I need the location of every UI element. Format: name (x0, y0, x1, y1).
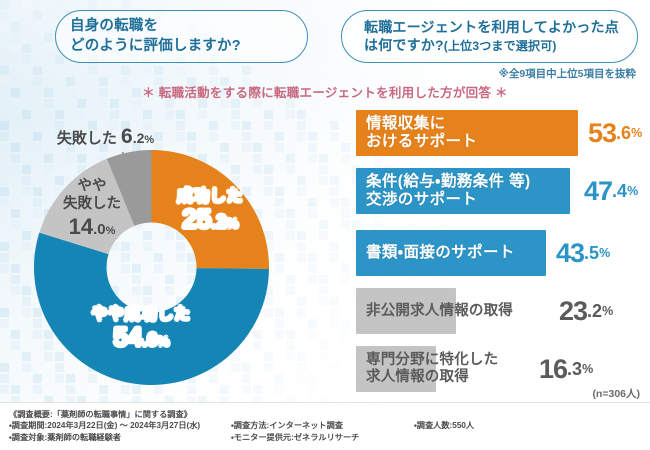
bar-label-specialized-job-info: 専門分野に特化した求人情報の取得 (366, 346, 498, 392)
survey-col1: ・調査期間:2024年3月22日(金) 〜 2024年3月27日(水) ・調査対… (9, 420, 200, 445)
bar-chart: 情報収集におけるサポート53.6%条件(給与・勤務条件 等)交渉のサポート47.… (356, 110, 641, 395)
donut-label-semi-fail-value: 14.0% (46, 214, 138, 241)
question-right-line2-main: は何ですか? (364, 37, 444, 53)
bar-value-int-condition-negotiation-support: 47 (584, 178, 612, 205)
bar-label-line2-condition-negotiation-support: 交渉のサポート (366, 191, 531, 209)
bar-label-info-support: 情報収集におけるサポート (366, 110, 477, 156)
bar-row-condition-negotiation-support[interactable]: 条件(給与・勤務条件 等)交渉のサポート47.4% (356, 168, 641, 214)
survey-monitor: ・モニター提供元:ゼネラルリサーチ (231, 432, 359, 444)
bar-label-line1-specialized-job-info: 専門分野に特化した (366, 352, 498, 369)
survey-col3: ・調査人数:550人 (414, 420, 474, 432)
sample-size-note: (n=306人) (592, 386, 640, 401)
question-right-line2: は何ですか?(上位3つまで選択可) (356, 36, 623, 55)
bar-row-private-job-info[interactable]: 非公開求人情報の取得23.2% (356, 288, 641, 334)
donut-label-fail-value: 6.2% (121, 125, 154, 148)
excerpt-note: ※全9項目中上位5項目を抜粋 (499, 66, 636, 81)
bar-value-dec-document-interview-support: .5 (584, 244, 599, 262)
bar-value-dec-specialized-job-info: .3 (567, 360, 582, 378)
bar-value-int-info-support: 53 (588, 120, 616, 147)
survey-col2: ・調査方法:インターネット調査 ・モニター提供元:ゼネラルリサーチ (231, 420, 359, 445)
bar-value-int-specialized-job-info: 16 (539, 356, 567, 383)
bar-value-int-document-interview-support: 43 (556, 240, 584, 267)
donut-fail-dec: .2 (133, 130, 145, 146)
bar-label-document-interview-support: 書類・面接のサポート (366, 230, 515, 276)
question-pill-right: 転職エージェントを利用してよかった点 は何ですか?(上位3つまで選択可) (341, 10, 638, 63)
donut-fail-pct: % (144, 134, 154, 146)
bar-value-document-interview-support: 43.5% (556, 230, 610, 276)
footer: 《調査概要:「薬剤師の転職事情」に関する調査》 ・調査期間:2024年3月22日… (0, 402, 650, 450)
bar-value-pct-condition-negotiation-support: % (627, 185, 638, 198)
donut-semi-fail-int: 14 (69, 214, 93, 239)
donut-semi-fail-pct: % (106, 225, 116, 237)
bar-label-condition-negotiation-support: 条件(給与・勤務条件 等)交渉のサポート (366, 168, 531, 214)
bar-label-line2-specialized-job-info: 求人情報の取得 (366, 369, 498, 386)
bar-value-int-private-job-info: 23 (559, 298, 587, 325)
survey-target: ・調査対象:薬剤師の転職経験者 (9, 432, 200, 444)
bar-row-info-support[interactable]: 情報収集におけるサポート53.6% (356, 110, 641, 156)
donut-semi-fail-dec: .0 (93, 221, 106, 238)
infographic-canvas: 自身の転職を どのように評価しますか? 転職エージェントを利用してよかった点 は… (0, 0, 650, 450)
bar-value-pct-specialized-job-info: % (582, 363, 593, 376)
bar-label-private-job-info: 非公開求人情報の取得 (366, 288, 513, 334)
question-left-line2: どのように評価しますか? (70, 37, 293, 56)
question-right-line1: 転職エージェントを利用してよかった点 (356, 18, 623, 36)
donut-label-semi-fail-title-l1: やや (78, 178, 107, 194)
bar-label-line1-condition-negotiation-support: 条件(給与・勤務条件 等) (366, 173, 531, 191)
question-left-line1: 自身の転職を (70, 17, 293, 36)
question-pill-left: 自身の転職を どのように評価しますか? (55, 10, 308, 63)
bar-label-line1-info-support: 情報収集に (366, 115, 477, 133)
donut-label-fail: 失敗した 6.2% (18, 124, 193, 150)
bar-label-line1-document-interview-support: 書類・面接のサポート (366, 244, 515, 262)
respondent-note: ＊ 転職活動をする際に転職エージェントを利用した方が回答 ＊ (0, 82, 650, 101)
bar-value-info-support: 53.6% (588, 110, 642, 156)
bar-label-line2-info-support: おけるサポート (366, 133, 477, 151)
bar-row-document-interview-support[interactable]: 書類・面接のサポート43.5% (356, 230, 641, 276)
bar-label-line1-private-job-info: 非公開求人情報の取得 (366, 303, 513, 320)
question-right-line2-sub: (上位3つまで選択可) (444, 39, 557, 53)
bar-value-condition-negotiation-support: 47.4% (584, 168, 638, 214)
donut-fail-int: 6 (121, 125, 133, 148)
bar-value-dec-info-support: .6 (616, 124, 631, 142)
donut-label-semi-fail-title-l2: 失敗した (63, 196, 121, 212)
bar-value-specialized-job-info: 16.3% (539, 346, 593, 392)
donut-segment-success (152, 150, 270, 269)
survey-count: ・調査人数:550人 (414, 420, 474, 432)
survey-period: ・調査期間:2024年3月22日(金) 〜 2024年3月27日(水) (9, 420, 200, 432)
bar-value-private-job-info: 23.2% (559, 288, 613, 334)
bar-value-pct-document-interview-support: % (599, 247, 610, 260)
survey-method: ・調査方法:インターネット調査 (231, 420, 359, 432)
donut-label-fail-title: 失敗した (57, 130, 117, 147)
bar-value-dec-condition-negotiation-support: .4 (612, 182, 627, 200)
bar-value-pct-info-support: % (631, 127, 642, 140)
bar-value-pct-private-job-info: % (602, 305, 613, 318)
bar-value-dec-private-job-info: .2 (587, 302, 602, 320)
donut-label-semi-fail: やや 失敗した 14.0% (46, 178, 138, 241)
